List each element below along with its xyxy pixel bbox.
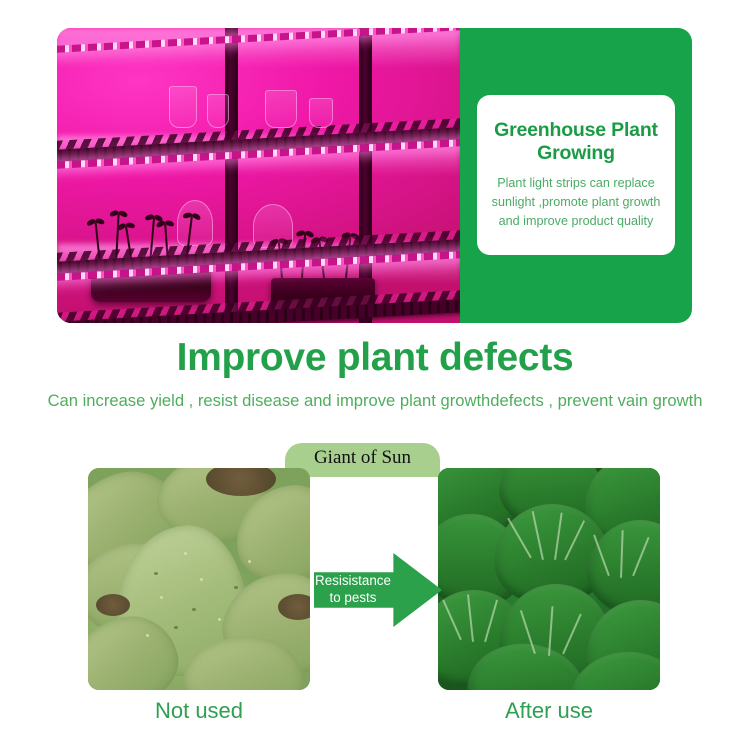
before-photo <box>88 468 310 690</box>
soil-patch <box>278 594 310 620</box>
glass-jar-1 <box>169 86 197 128</box>
before-caption: Not used <box>88 698 310 724</box>
after-caption: After use <box>438 698 660 724</box>
green-info-panel: Greenhouse Plant Growing Plant light str… <box>460 28 692 323</box>
soil-patch <box>96 594 130 616</box>
page-title: Improve plant defects <box>0 336 750 380</box>
info-card: Greenhouse Plant Growing Plant light str… <box>477 95 675 255</box>
product-infographic: Greenhouse Plant Growing Plant light str… <box>0 0 750 750</box>
pest-hole <box>192 608 196 611</box>
info-card-body: Plant light strips can replace sunlight … <box>485 174 667 231</box>
arrow-label: Resisistance to pests <box>314 553 392 627</box>
shelf-post-left <box>225 28 238 323</box>
glass-jar-3 <box>265 90 297 128</box>
pest-hole <box>154 572 158 575</box>
hero-banner: Greenhouse Plant Growing Plant light str… <box>57 28 692 323</box>
glass-bowl-1 <box>177 200 213 246</box>
comparison-arrow: Resisistance to pests <box>314 553 442 627</box>
info-card-title: Greenhouse Plant Growing <box>485 119 667 165</box>
glass-jar-2 <box>207 94 229 128</box>
after-photo <box>438 468 660 690</box>
glass-jar-4 <box>309 98 333 128</box>
page-subtitle: Can increase yield , resist disease and … <box>0 388 750 413</box>
grow-light-photo <box>57 28 460 323</box>
pest-hole <box>234 586 238 589</box>
pest-hole <box>174 626 178 629</box>
